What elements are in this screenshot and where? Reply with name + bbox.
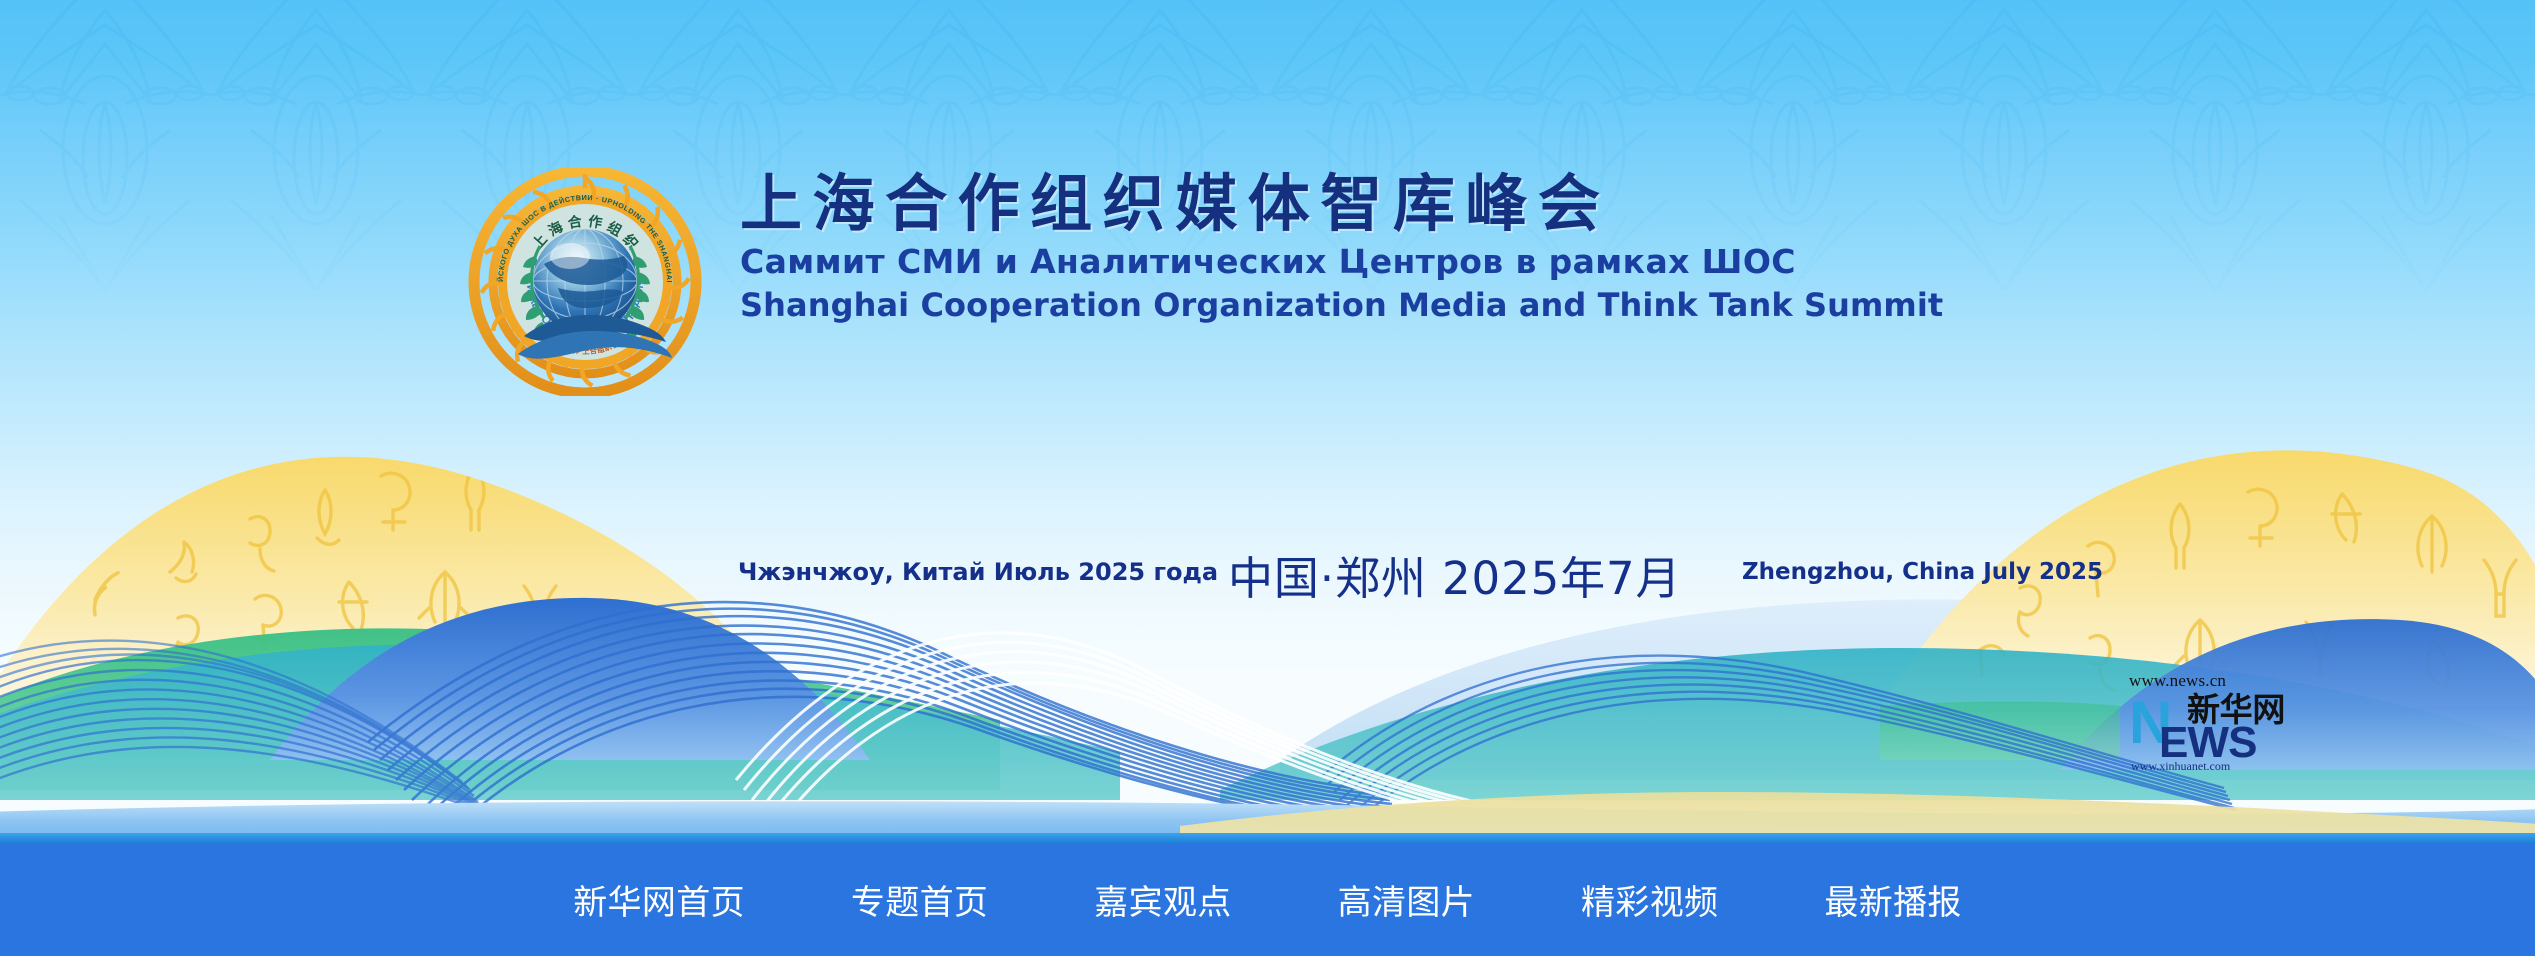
nav-item-guest-views[interactable]: 嘉宾观点 (1058, 875, 1267, 924)
venue-chinese: 中国·郑州 2025年7月 (1228, 542, 1681, 607)
nav-item-topic-home[interactable]: 专题首页 (815, 875, 1024, 924)
venue-russian: Чжэнчжоу, Китай Июль 2025 года (738, 558, 1218, 586)
landscape-scenery (0, 0, 2535, 956)
main-navigation: 新华网首页 专题首页 嘉宾观点 高清图片 精彩视频 最新播报 (0, 843, 2535, 956)
logo-wordmark: N EWS 新华网 (2129, 689, 2286, 757)
nav-item-videos[interactable]: 精彩视频 (1545, 875, 1754, 924)
nav-item-hd-photos[interactable]: 高清图片 (1302, 875, 1511, 924)
sco-emblem: ШАНХАЙСКОГО ДУХА ШОС В ДЕЙСТВИИ · UPHOLD… (466, 168, 704, 396)
logo-bottom-url: www.xinhuanet.com (2131, 758, 2288, 774)
logo-top-url: www.news.cn (2129, 672, 2286, 690)
sco-summit-banner: ШАНХАЙСКОГО ДУХА ШОС В ДЕЙСТВИИ · UPHOLD… (0, 0, 2535, 956)
logo-brand-chinese: 新华网 (2187, 693, 2285, 726)
title-russian: Саммит СМИ и Аналитических Центров в рам… (740, 242, 2100, 281)
summit-title-block: 上海合作组织媒体智库峰会 Саммит СМИ и Аналитических … (740, 172, 2100, 324)
nav-item-homepage[interactable]: 新华网首页 (537, 875, 781, 924)
xinhuanet-logo[interactable]: www.news.cn N EWS 新华网 www.xinhuanet.com (2129, 672, 2286, 774)
venue-english: Zhengzhou, China July 2025 (1742, 559, 2103, 585)
title-english: Shanghai Cooperation Organization Media … (740, 286, 2100, 324)
nav-item-latest-news[interactable]: 最新播报 (1788, 875, 1997, 924)
venue-date-row: Чжэнчжоу, Китай Июль 2025 года 中国·郑州 202… (0, 540, 2535, 610)
title-chinese: 上海合作组织媒体智库峰会 (740, 172, 2100, 236)
